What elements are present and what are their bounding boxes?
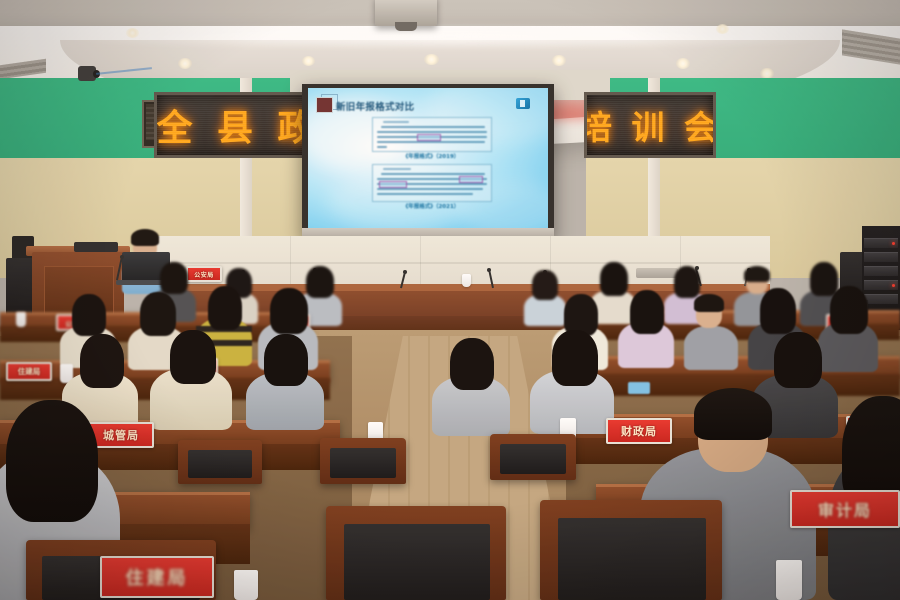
led-banner-right-text: 培 训 会	[584, 101, 716, 149]
podium-equipment	[74, 242, 118, 252]
chair-cushion	[188, 450, 252, 478]
phone[interactable]	[628, 382, 650, 394]
nameplate-text: 城管局	[103, 427, 139, 443]
chair-cushion	[344, 524, 490, 600]
led-banner-left: 全 县 政	[154, 92, 322, 158]
slide-bullet-icon	[316, 97, 333, 113]
downlight-icon	[552, 55, 566, 66]
cove-white-glow	[40, 24, 860, 50]
slide-text-box-2	[372, 164, 492, 202]
rack-unit	[864, 252, 898, 262]
slide-caption-2: 《年报格式》（2021）	[372, 202, 490, 210]
rack-status-led-icon	[892, 242, 895, 245]
downlight-icon	[302, 56, 315, 66]
microphone-head-icon	[120, 255, 124, 259]
slide-title: 新旧年报格式对比	[336, 99, 486, 113]
back-wall-trim	[150, 262, 770, 264]
rack-unit	[864, 266, 898, 276]
chair-cushion	[558, 518, 706, 600]
slide-logo-inner-icon	[520, 100, 525, 107]
rack-status-led-icon	[892, 284, 895, 287]
slide-text-box-1	[372, 117, 492, 152]
downlight-icon	[424, 54, 439, 65]
downlight-icon	[126, 28, 139, 38]
control-console[interactable]	[636, 268, 678, 278]
paper-cup	[16, 312, 26, 327]
chair-cushion	[500, 444, 566, 474]
conference-room-photo: 全 县 政 培 训 会 新旧年报格式对比 《年报格式》（2019） 《年报	[0, 0, 900, 600]
projector-lens-icon	[395, 22, 417, 31]
nameplate-text: 审计局	[818, 497, 872, 521]
nameplate-chengguan: 城管局	[88, 422, 154, 448]
chair-cushion	[330, 448, 396, 478]
rack-unit	[864, 294, 898, 304]
nameplate-text: 财政局	[621, 423, 657, 439]
downlight-icon	[716, 24, 729, 34]
led-banner-left-text: 全 县 政	[156, 99, 319, 151]
nameplate: 住建局	[6, 362, 52, 381]
led-banner-right: 培 训 会	[584, 92, 716, 158]
nameplate-foreground: 住建局	[100, 556, 214, 598]
paper-cup	[462, 274, 471, 287]
downlight-icon	[178, 58, 192, 69]
nameplate-text: 住建局	[126, 564, 189, 590]
microphone-head-icon	[403, 270, 407, 274]
slide-caption-1: 《年报格式》（2019）	[372, 152, 490, 160]
nameplate-caizheng: 财政局	[606, 418, 672, 444]
paper-cup	[776, 560, 802, 600]
nameplate-text: 住建局	[18, 366, 41, 377]
paper-cup	[234, 570, 258, 600]
downlight-icon	[676, 58, 690, 69]
nameplate-text: 公安局	[194, 270, 214, 279]
microphone-head-icon	[487, 268, 491, 272]
nameplate-foreground: 审计局	[790, 490, 900, 528]
nameplate: 公安局	[186, 266, 222, 282]
